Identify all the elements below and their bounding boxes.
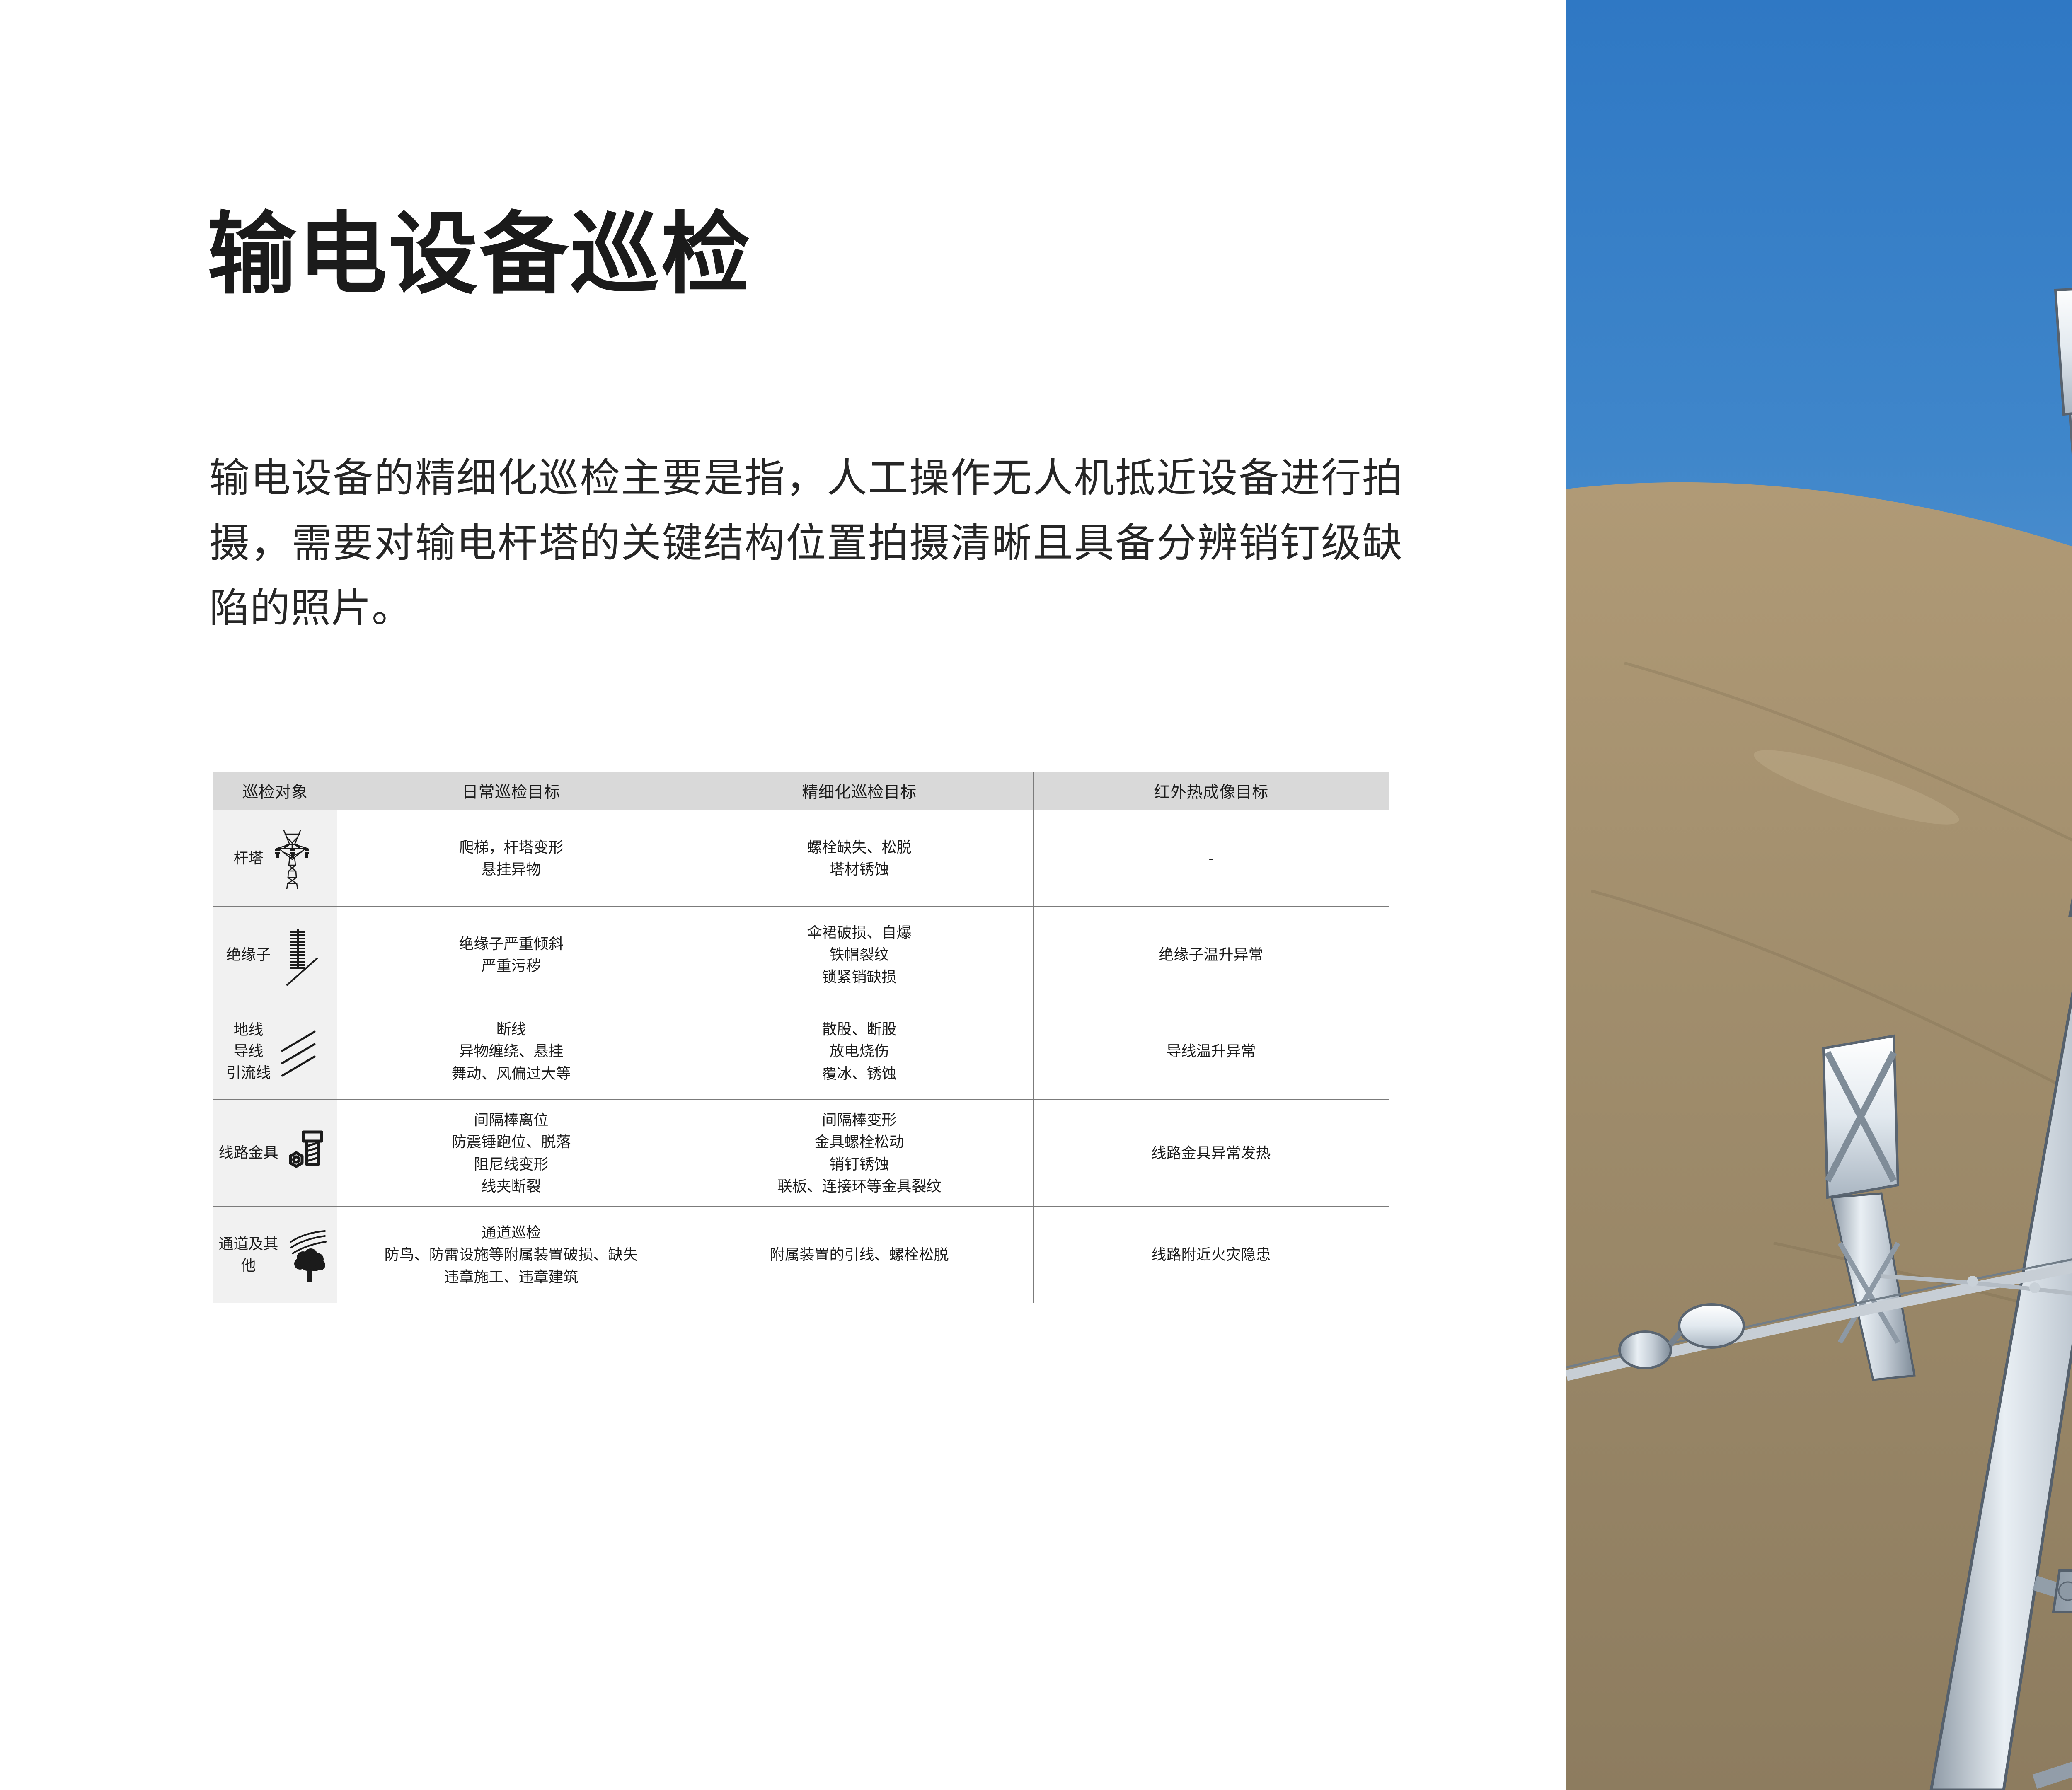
transmission-tower-icon — [268, 827, 317, 889]
transmission-tower-photo — [1566, 0, 2072, 1790]
object-label: 绝缘子 — [226, 944, 271, 965]
fine-target-cell: 螺栓缺失、松脱 塔材锈蚀 — [685, 810, 1034, 907]
fine-target-cell: 散股、断股 放电烧伤 覆冰、锈蚀 — [685, 1003, 1034, 1100]
infrared-target-cell: 线路金具异常发热 — [1034, 1100, 1389, 1207]
object-cell-conductor: 地线 导线 引流线 — [213, 1003, 337, 1100]
left-content-pane: 输电设备巡检 输电设备的精细化巡检主要是指，人工操作无人机抵近设备进行拍摄，需要… — [0, 0, 1566, 1790]
daily-target-cell: 爬梯，杆塔变形 悬挂异物 — [337, 810, 685, 907]
object-cell-fittings: 线路金具 — [213, 1100, 337, 1207]
daily-target-cell: 断线 异物缠绕、悬挂 舞动、风偏过大等 — [337, 1003, 685, 1100]
intro-paragraph: 输电设备的精细化巡检主要是指，人工操作无人机抵近设备进行拍摄，需要对输电杆塔的关… — [209, 445, 1403, 641]
object-cell-corridor: 通道及其他 — [213, 1207, 337, 1303]
object-cell-tower: 杆塔 — [213, 810, 337, 907]
fine-target-cell: 间隔棒变形 金具螺栓松动 销钉锈蚀 联板、连接环等金具裂纹 — [685, 1100, 1034, 1207]
inspection-targets-table: 巡检对象 日常巡检目标 精细化巡检目标 红外热成像目标 杆塔 — [213, 772, 1389, 1303]
photo-illustration — [1566, 0, 2072, 1790]
column-header-infrared: 红外热成像目标 — [1034, 772, 1389, 810]
slide-root: 输电设备巡检 输电设备的精细化巡检主要是指，人工操作无人机抵近设备进行拍摄，需要… — [0, 0, 2072, 1790]
object-label: 线路金具 — [218, 1142, 278, 1163]
conductor-lines-icon — [275, 1020, 324, 1082]
daily-target-cell: 间隔棒离位 防震锤跑位、脱落 阻尼线变形 线夹断裂 — [337, 1100, 685, 1207]
column-header-daily: 日常巡检目标 — [337, 772, 685, 810]
table-row: 杆塔 — [213, 810, 1389, 907]
table-row: 地线 导线 引流线 — [213, 1003, 1389, 1100]
page-title: 输电设备巡检 — [207, 203, 752, 305]
infrared-target-cell: 导线温升异常 — [1034, 1003, 1389, 1100]
fine-target-cell: 附属装置的引线、螺栓松脱 — [685, 1207, 1034, 1303]
object-cell-insulator: 绝缘子 — [213, 907, 337, 1003]
infrared-target-cell: 线路附近火灾隐患 — [1034, 1207, 1389, 1303]
infrared-target-cell: - — [1034, 810, 1389, 907]
infrared-target-cell: 绝缘子温升异常 — [1034, 907, 1389, 1003]
fine-target-cell: 伞裙破损、自爆 铁帽裂纹 锁紧销缺损 — [685, 907, 1034, 1003]
daily-target-cell: 通道巡检 防鸟、防雷设施等附属装置破损、缺失 违章施工、违章建筑 — [337, 1207, 685, 1303]
column-header-object: 巡检对象 — [213, 772, 337, 810]
insulator-string-icon — [275, 924, 324, 986]
object-label: 杆塔 — [233, 847, 263, 869]
column-header-fine: 精细化巡检目标 — [685, 772, 1034, 810]
object-label: 通道及其他 — [215, 1233, 281, 1276]
table-row: 绝缘子 — [213, 907, 1389, 1003]
table-row: 线路金具 — [213, 1100, 1389, 1207]
daily-target-cell: 绝缘子严重倾斜 严重污秽 — [337, 907, 685, 1003]
object-label: 地线 导线 引流线 — [226, 1019, 271, 1084]
table-row: 通道及其他 — [213, 1207, 1389, 1303]
bolt-nut-icon — [283, 1122, 332, 1184]
tree-under-powerline-icon — [286, 1224, 334, 1286]
table-header-row: 巡检对象 日常巡检目标 精细化巡检目标 红外热成像目标 — [213, 772, 1389, 810]
